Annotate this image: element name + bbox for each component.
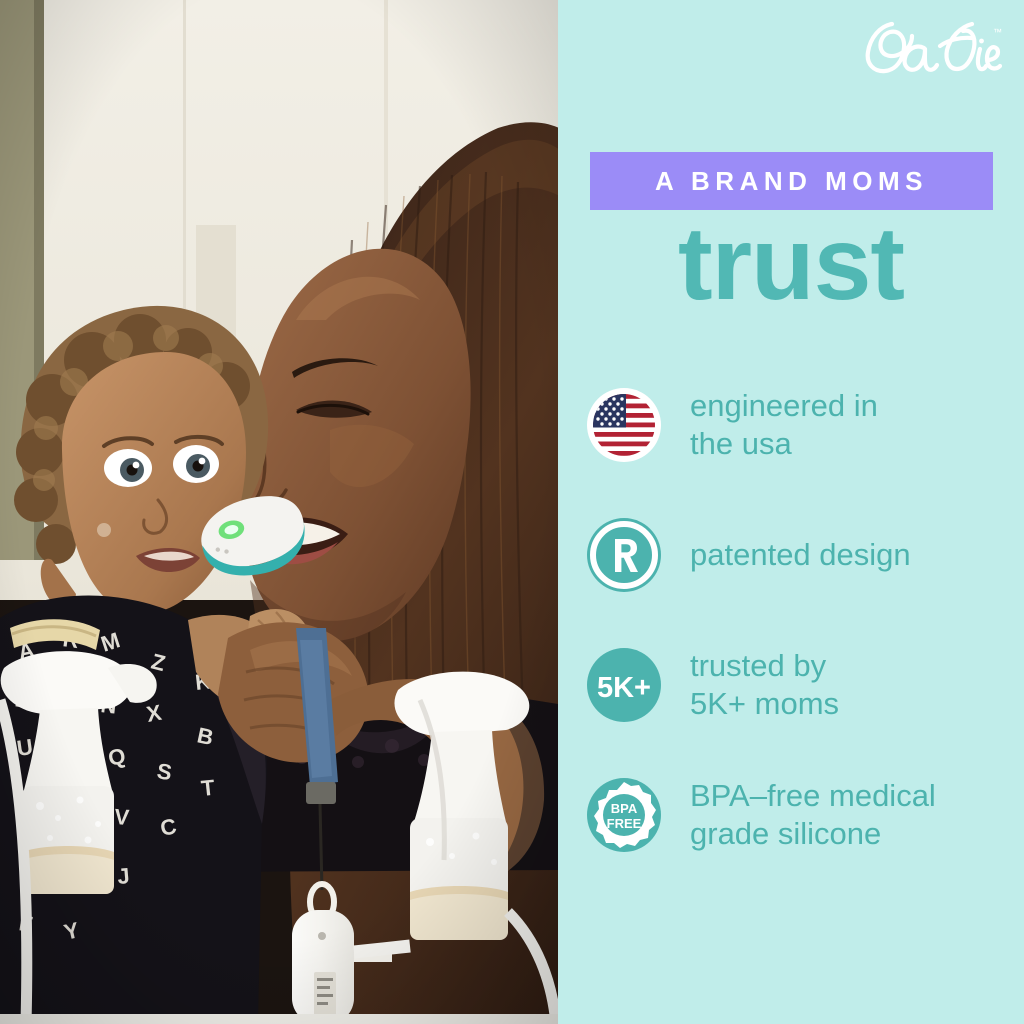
usa-flag-icon [586,387,662,463]
lavie-script-logo-icon: ™ [854,16,1002,82]
feature-item-engineered-in-usa: engineered in the usa [586,360,1024,490]
feature-item-patented-design: patented design [586,490,1024,620]
feature-item-bpa-free-silicone: BPA FREE BPA–free medical grade silicone [586,750,1024,880]
feature-label: BPA–free medical grade silicone [690,777,936,853]
photo-illustration: A R M Z K D E N X B U P Q S T L W [0,0,558,1024]
badge-line-2: FREE [607,816,642,831]
feature-label: trusted by 5K+ moms [690,647,839,723]
five-k-plus-badge-icon: 5K+ [586,647,662,723]
registered-trademark-icon [586,517,662,593]
eyebrow-banner: A BRAND MOMS [590,152,993,210]
trademark-symbol: ™ [993,27,1002,37]
eyebrow-text: A BRAND MOMS [655,168,928,194]
promotional-graphic: A R M Z K D E N X B U P Q S T L W [0,0,1024,1024]
badge-line-1: BPA [611,801,638,816]
lifestyle-photo: A R M Z K D E N X B U P Q S T L W [0,0,558,1024]
badge-text: 5K+ [597,672,651,704]
feature-label: engineered in the usa [690,387,878,463]
feature-label: patented design [690,536,911,574]
info-panel: ™ A BRAND MOMS trust [558,0,1024,1024]
bpa-free-badge-icon: BPA FREE [586,777,662,853]
feature-item-trusted-by-moms: 5K+ trusted by 5K+ moms [586,620,1024,750]
feature-list: engineered in the usa patented design [586,360,1024,880]
page-title: trust [558,212,1024,316]
